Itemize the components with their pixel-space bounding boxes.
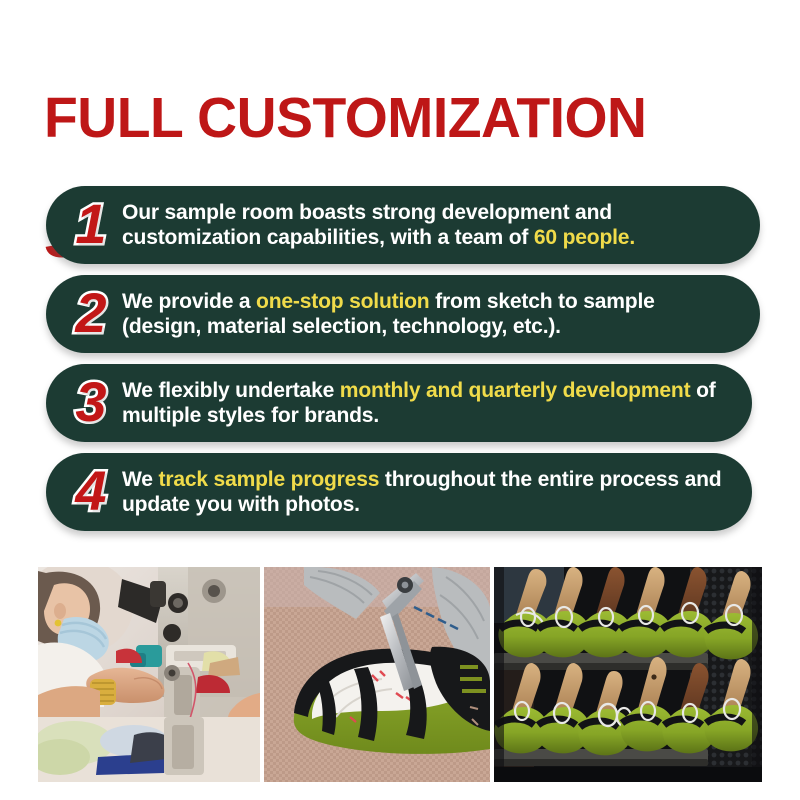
- feature-highlight-4: track sample progress: [159, 467, 380, 491]
- feature-item-2: 2 We provide a one-stop solution from sk…: [46, 275, 760, 353]
- page-title-line-1: FULL CUSTOMIZATION: [44, 88, 752, 148]
- feature-list: 1 Our sample room boasts strong developm…: [0, 186, 800, 542]
- feature-item-4: 4 We track sample progress throughout th…: [46, 453, 752, 531]
- sewing-machine-worker-photo: [38, 567, 260, 782]
- shoe-lasts-rack-photo: [494, 567, 762, 782]
- feature-text-2-part-1: We provide a: [122, 289, 256, 313]
- feature-text-4-part-1: We: [122, 467, 159, 491]
- feature-text-2: We provide a one-stop solution from sket…: [122, 289, 747, 339]
- feature-text-3: We flexibly undertake monthly and quarte…: [122, 378, 739, 428]
- feature-highlight-2: one-stop solution: [256, 289, 429, 313]
- feature-text-4: We track sample progress throughout the …: [122, 467, 739, 517]
- feature-item-1: 1 Our sample room boasts strong developm…: [46, 186, 760, 264]
- promo-poster: FULL CUSTOMIZATION SERVICE!！！ 1 Our samp…: [0, 0, 800, 800]
- feature-item-3: 3 We flexibly undertake monthly and quar…: [46, 364, 752, 442]
- feature-number-4: 4: [60, 463, 122, 519]
- feature-text-1: Our sample room boasts strong developmen…: [122, 200, 747, 250]
- shoe-trimming-photo: [264, 567, 490, 782]
- feature-highlight-3: monthly and quarterly development: [340, 378, 691, 402]
- feature-highlight-1: 60 people.: [534, 225, 635, 249]
- photo-strip: [38, 567, 762, 782]
- feature-number-2: 2: [60, 285, 122, 341]
- feature-text-3-part-1: We flexibly undertake: [122, 378, 340, 402]
- feature-number-3: 3: [60, 374, 122, 430]
- feature-number-1: 1: [60, 196, 122, 252]
